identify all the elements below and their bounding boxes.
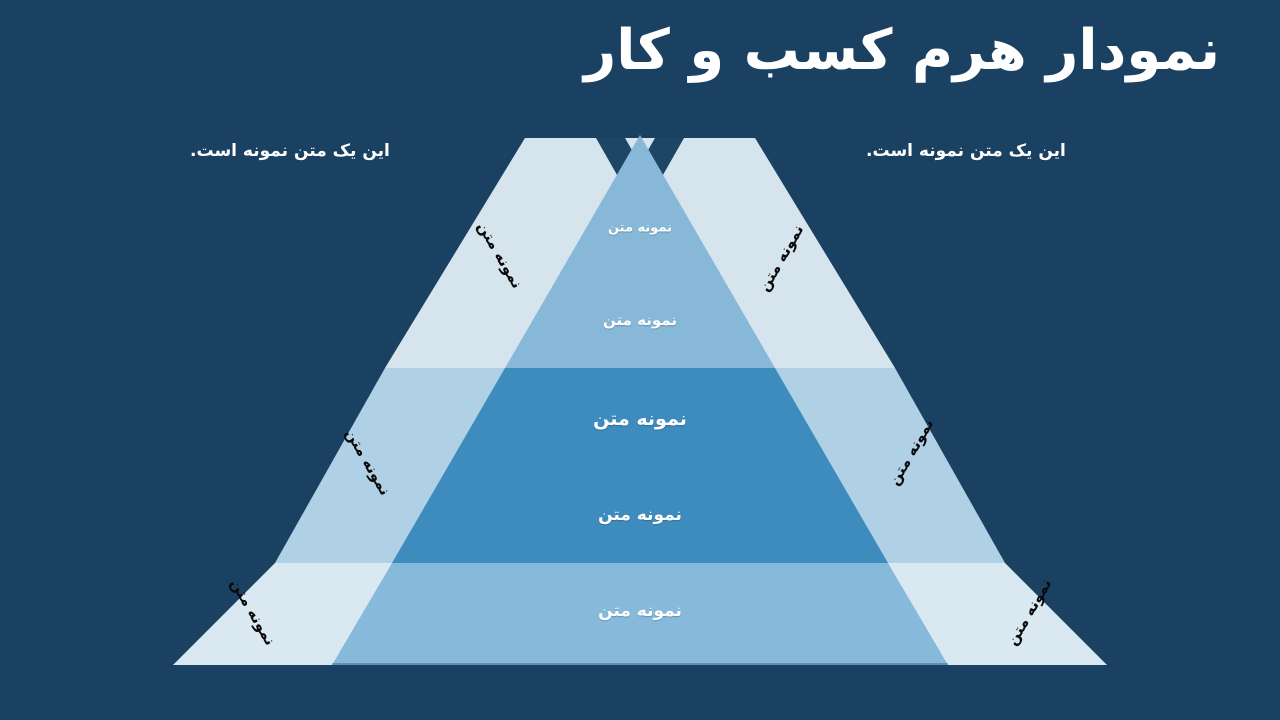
core-label-5: نمونه متن (598, 601, 682, 621)
slide-canvas: نمودار هرم کسب و کار این یک متن نمونه اس… (0, 0, 1280, 720)
core-label-1: نمونه متن (608, 221, 672, 236)
base-trim (332, 663, 948, 666)
core-label-3: نمونه متن (593, 408, 687, 430)
core-label-2: نمونه متن (603, 311, 677, 329)
core-label-4: نمونه متن (598, 505, 682, 525)
